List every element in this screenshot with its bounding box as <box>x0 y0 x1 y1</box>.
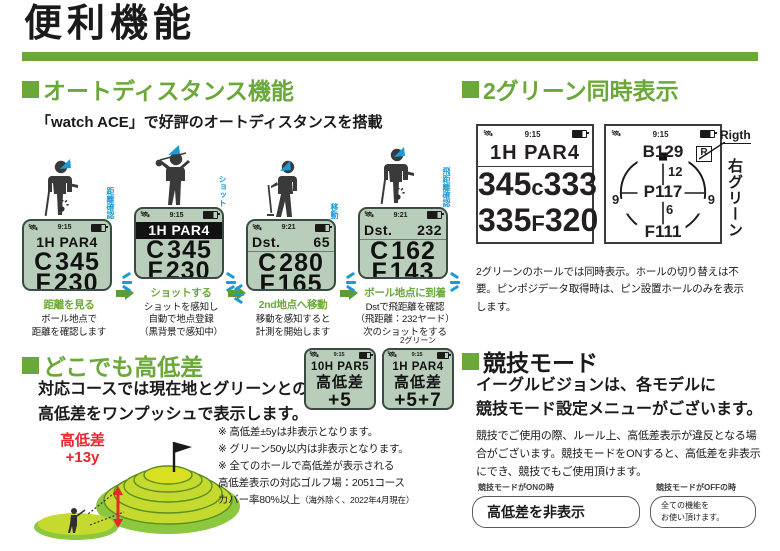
page-title: 便利機能 <box>24 4 196 46</box>
caption-3-body: 移動を感知すると 計測を開始します <box>243 314 343 340</box>
elevation-art-label-line1: 高低差 <box>60 432 105 449</box>
figure-row-1: 距離確認 <box>22 157 116 219</box>
elevation-subheading: 対応コースでは現在地とグリーンとの 高低差をワンプッシュで表示します。 <box>38 378 308 428</box>
screen-1-status-bar: 🛰 9:15 <box>24 221 110 234</box>
screen-2-time: 9:15 <box>170 212 184 219</box>
caption-2: ショットする ショットを感知し 自動で地点登録 （黒背景で感知中） <box>131 285 231 340</box>
section-heading-competition-mode: 競技モード <box>462 344 598 378</box>
lcd-right-left-width: 9 <box>612 192 619 207</box>
lcd-right-pin-label: P117 <box>606 182 720 202</box>
flash-left-3 <box>234 283 244 305</box>
section-heading-two-green: 2グリーン同時表示 <box>462 72 679 106</box>
watch-screen-1: 🛰 9:15 1H PAR4 C345 F230 <box>22 219 112 291</box>
caption-4-title: ボール地点に到着 <box>355 285 455 300</box>
competition-box-off[interactable]: 全ての機能を お使い頂けます。 <box>650 496 756 528</box>
lcd-left-row2-right: 320 <box>545 202 598 238</box>
screen-2-status-bar: 🛰 9:15 <box>136 209 222 222</box>
right-green-side-label: 右グリーン <box>724 158 745 238</box>
caption-3-title: 2nd地点へ移動 <box>243 297 343 312</box>
square-bullet-icon <box>22 357 39 374</box>
competition-mode-boxes: 競技モードがONの時 高低差を非表示 競技モードがOFFの時 全ての機能を お使… <box>472 482 772 528</box>
watch-screen-2: 🛰 9:15 1H PAR4 C345 F230 <box>134 207 224 279</box>
caption-2-body: ショットを感知し 自動で地点登録 （黒背景で感知中） <box>131 302 231 340</box>
screen-1-line2: F230 <box>24 273 110 291</box>
screen-2-line2-value: 230 <box>166 257 211 279</box>
elevation-screen-2-status: 🛰 9:15 <box>384 350 452 360</box>
elevation-screen-1-status: 🛰 9:15 <box>306 350 374 360</box>
competition-box-off-text: 全ての機能を お使い頂けます。 <box>661 500 724 523</box>
screen-1-line2-value: 230 <box>54 269 99 291</box>
elevation-art-label: 高低差 +13y <box>60 432 105 467</box>
callout-leader-line <box>699 142 725 160</box>
caption-3: 2nd地点へ移動 移動を感知すると 計測を開始します <box>243 297 343 340</box>
lcd-right-right-width: 9 <box>708 192 715 207</box>
elevation-note-4: 高低差表示の対応ゴルフ場：2051コース <box>218 475 458 492</box>
two-green-screens: 🛰 9:15 1H PAR4 345c333 335F320 🛰 9:15 <box>476 124 722 244</box>
competition-heading-label: 競技モード <box>483 344 598 378</box>
elevation-art-label-line2: +13y <box>60 449 105 466</box>
elevation-illustration: 高低差 +13y <box>28 428 240 546</box>
elevation-screen-2-value: +5+7 <box>384 392 452 410</box>
elevation-note-3: ※ 全てのホールで高低差が表示される <box>218 458 458 475</box>
title-underline-rule <box>22 52 758 61</box>
lcd-right-front-dist: 6 <box>666 202 673 217</box>
competition-box-on-text: 高低差を非表示 <box>487 502 585 522</box>
square-bullet-icon <box>22 81 39 98</box>
blue-pointer-icon <box>280 161 292 173</box>
flow-step-4: 飛距離確認 🛰 9:21 Dst. 232 <box>358 145 452 340</box>
figure-label-1: 距離確認 <box>106 187 114 219</box>
section-heading-auto-distance: オートディスタンス機能 <box>22 72 452 106</box>
lcd-left-hole: 1H PAR4 <box>478 142 592 167</box>
two-green-tag: 2グリーン <box>400 335 436 346</box>
elevation-note-1: ※ 高低差±5yは非表示となります。 <box>218 424 458 441</box>
elevation-note-5-main: カバー率80%以上 <box>218 494 300 506</box>
competition-box-off-title: 競技モードがOFFの時 <box>656 482 756 493</box>
competition-box-on-title: 競技モードがONの時 <box>478 482 640 493</box>
square-bullet-icon <box>462 81 479 98</box>
elevation-note-5: カバー率80%以上（海外除く、2022年4月現在） <box>218 492 458 509</box>
flash-right-4 <box>450 271 460 293</box>
satellite-icon: 🛰 <box>252 224 262 232</box>
brochure-page: 便利機能 オートディスタンス機能 「watch ACE」で好評のオートディスタン… <box>0 0 780 534</box>
battery-icon <box>203 211 218 219</box>
competition-box-off-wrap: 競技モードがOFFの時 全ての機能を お使い頂けます。 <box>650 482 756 528</box>
figure-row-3: 移動 <box>246 157 340 219</box>
figure-row-2: ショット <box>134 145 228 207</box>
screen-4-dst-label: Dst. <box>364 222 392 239</box>
caption-1-body: ボール地点で 距離を確認します <box>19 314 119 340</box>
blue-pointer-icon <box>168 145 181 157</box>
lcd-left-row1: 345c333 <box>478 169 592 203</box>
battery-icon <box>572 130 587 138</box>
figure-label-3: 移動 <box>330 203 338 219</box>
section-heading-elevation: どこでも高低差 <box>22 348 203 382</box>
watch-screen-3: 🛰 9:21 Dst. 65 C280 F165 <box>246 219 336 291</box>
lcd-left-row2-left: 335 <box>478 202 531 238</box>
left-column: オートディスタンス機能 「watch ACE」で好評のオートディスタンスを搭載 <box>22 72 452 528</box>
lcd-right-status: 🛰 9:15 <box>606 126 720 142</box>
screen-1-time: 9:15 <box>58 224 72 231</box>
auto-distance-heading-label: オートディスタンス機能 <box>43 72 294 106</box>
satellite-icon: 🛰 <box>309 351 319 359</box>
satellite-icon: 🛰 <box>140 211 150 219</box>
elevation-mini-screens: 🛰 9:15 10H PAR5 高低差 +5 2グリーン 🛰 9:15 <box>304 348 454 410</box>
screen-4-line2-value: 143 <box>390 258 435 279</box>
elevation-screen-2-time: 9:15 <box>412 352 423 358</box>
battery-icon <box>91 224 106 232</box>
flash-left-4 <box>346 271 356 293</box>
screen-2-line2-label: F <box>148 257 164 279</box>
competition-box-on[interactable]: 高低差を非表示 <box>472 496 640 528</box>
flow-step-2: ショット 🛰 9:15 1H PAR4 C345 <box>134 145 228 340</box>
lcd-right-back-dist: 12 <box>668 164 682 179</box>
elevation-screen-1: 🛰 9:15 10H PAR5 高低差 +5 <box>304 348 376 410</box>
mini-screen-wrap-2: 2グリーン 🛰 9:15 1H PAR4 高低差 +5+7 <box>382 348 454 410</box>
lcd-left-status: 🛰 9:15 <box>478 126 592 142</box>
elevation-screen-1-value: +5 <box>306 392 374 410</box>
screen-3-line2-value: 165 <box>278 270 323 291</box>
caption-1-title: 距離を見る <box>19 297 119 312</box>
figure-row-4: 飛距離確認 <box>358 145 452 207</box>
screen-3-time: 9:21 <box>282 224 296 231</box>
ball-impact-icon <box>56 200 69 213</box>
caption-2-title: ショットする <box>131 285 231 300</box>
figure-label-4: 飛距離確認 <box>442 167 450 207</box>
elevation-notes: ※ 高低差±5yは非表示となります。 ※ グリーン50y以内は非表示となります。… <box>218 424 458 509</box>
competition-box-on-wrap: 競技モードがONの時 高低差を非表示 <box>472 482 640 528</box>
screen-3-line2-label: F <box>260 270 276 291</box>
screen-3-line2: F165 <box>248 274 334 291</box>
screen-2-line2: F230 <box>136 261 222 279</box>
screen-4-time: 9:21 <box>394 212 408 219</box>
elevation-note-5-small: （海外除く、2022年4月現在） <box>300 495 414 505</box>
competition-subheading: イーグルビジョンは、各モデルに 競技モード設定メニューがございます。 <box>476 374 762 422</box>
competition-box-off-line1: 全ての機能を <box>661 501 709 510</box>
auto-distance-flow: 距離確認 🛰 9:15 1H PAR4 C345 F230 <box>22 140 452 340</box>
satellite-icon: 🛰 <box>364 211 374 219</box>
satellite-icon: 🛰 <box>611 130 621 138</box>
battery-icon <box>359 352 371 359</box>
watch-screen-4: 🛰 9:21 Dst. 232 C162 F143 <box>358 207 448 279</box>
flash-left-2 <box>122 271 132 293</box>
battery-icon <box>427 211 442 219</box>
auto-distance-subheading: 「watch ACE」で好評のオートディスタンスを搭載 <box>36 111 452 132</box>
two-green-heading-label: 2グリーン同時表示 <box>483 72 679 106</box>
battery-icon <box>437 352 449 359</box>
screen-1-line2-label: F <box>36 269 52 291</box>
elevation-screen-1-time: 9:15 <box>334 352 345 358</box>
satellite-icon: 🛰 <box>28 224 38 232</box>
caption-4: ボール地点に到着 Dstで飛距離を確認 （飛距離：232ヤード） 次のショットを… <box>355 285 455 340</box>
competition-subheading-line2: 競技モード設定メニューがございます。 <box>476 398 762 422</box>
competition-subheading-line1: イーグルビジョンは、各モデルに <box>476 374 762 398</box>
elevation-screen-1-hole: 10H PAR5 <box>306 360 374 374</box>
elevation-heading-label: どこでも高低差 <box>43 348 203 382</box>
satellite-icon: 🛰 <box>387 351 397 359</box>
elevation-screen-2: 🛰 9:15 1H PAR4 高低差 +5+7 <box>382 348 454 410</box>
elevation-note-2: ※ グリーン50y以内は非表示となります。 <box>218 441 458 458</box>
screen-4-line2-label: F <box>372 258 388 279</box>
flow-step-1: 距離確認 🛰 9:15 1H PAR4 C345 F230 <box>22 157 116 340</box>
competition-body-text: 競技でご使用の際、ルール上、高低差表示が違反となる場合がございます。競技モードを… <box>476 428 764 481</box>
screen-4-line2: F143 <box>360 262 446 279</box>
ball-impact-icon <box>392 188 405 201</box>
lcd-left-row2: 335F320 <box>478 205 592 239</box>
satellite-icon: 🛰 <box>483 130 493 138</box>
lcd-right-front-label: F111 <box>606 222 720 242</box>
caption-1: 距離を見る ボール地点で 距離を確認します <box>19 297 119 340</box>
lcd-right-time: 9:15 <box>653 130 669 139</box>
two-green-note: 2グリーンのホールでは同時表示。ホールの切り替えは不要。ピンポジデータ取得時は、… <box>476 264 752 316</box>
flow-step-3: 移動 🛰 9:21 Dst. 65 <box>246 157 340 340</box>
battery-icon <box>700 130 715 138</box>
mini-screen-wrap-1: 🛰 9:15 10H PAR5 高低差 +5 <box>304 348 376 410</box>
competition-box-off-line2: お使い頂けます。 <box>661 513 724 522</box>
lcd-left-row1-left: 345 <box>478 166 531 202</box>
elevation-subheading-line1: 対応コースでは現在地とグリーンとの <box>38 378 308 403</box>
blue-pointer-icon <box>394 147 406 159</box>
lcd-left-row1-mid: c <box>531 175 543 200</box>
screen-4-status-bar: 🛰 9:21 <box>360 209 446 222</box>
elevation-screen-2-hole: 1H PAR4 <box>384 360 452 374</box>
square-bullet-icon <box>462 353 479 370</box>
figure-label-2: ショット <box>218 175 226 207</box>
screen-3-status-bar: 🛰 9:21 <box>248 221 334 234</box>
right-column: 2グリーン同時表示 🛰 9:15 1H PAR4 345c333 335F320 <box>462 72 762 528</box>
lcd-left-row2-mid: F <box>531 211 544 236</box>
battery-icon <box>315 224 330 232</box>
blue-pointer-icon <box>60 159 72 171</box>
lcd-left-time: 9:15 <box>525 130 541 139</box>
two-green-lcd-left: 🛰 9:15 1H PAR4 345c333 335F320 <box>476 124 594 244</box>
lcd-left-row1-right: 333 <box>544 166 597 202</box>
